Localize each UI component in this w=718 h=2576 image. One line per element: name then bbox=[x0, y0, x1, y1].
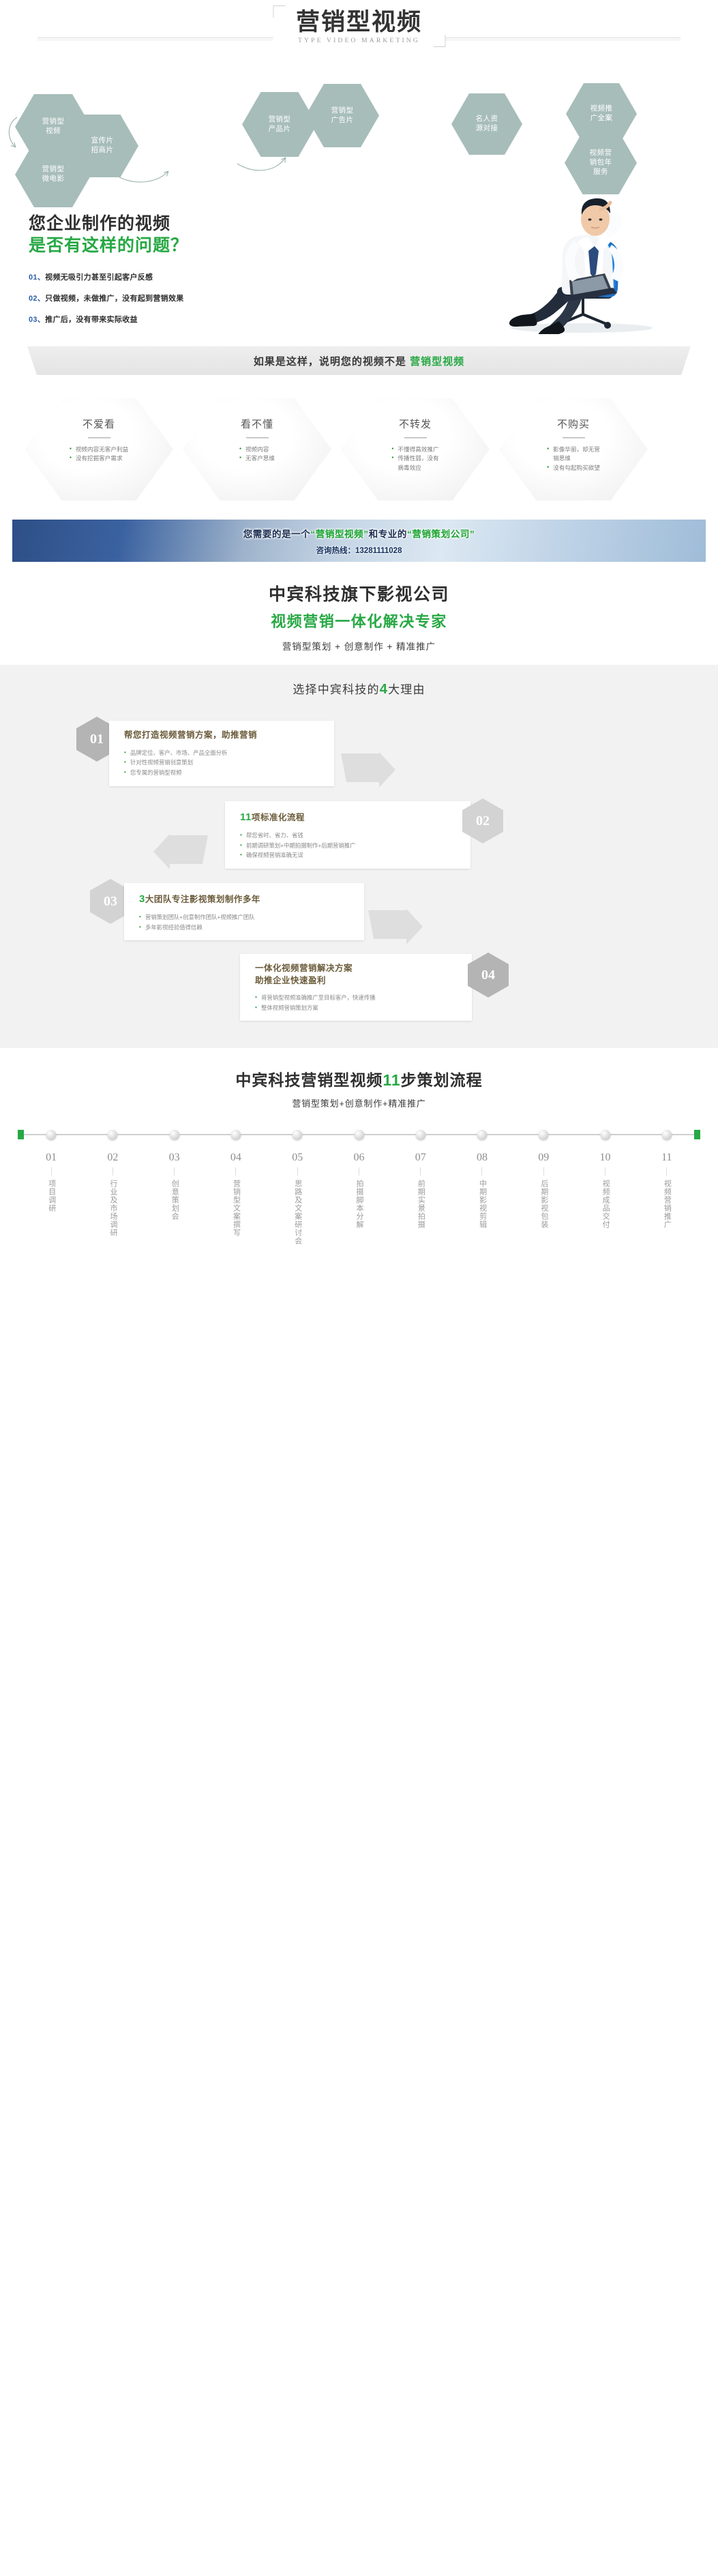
cta-highlight-2: “营销策划公司” bbox=[407, 529, 475, 539]
steps-heading: 中宾科技营销型视频11步策划流程 bbox=[0, 1067, 718, 1090]
step-rule bbox=[543, 1167, 544, 1175]
step-number: 02 bbox=[82, 1152, 143, 1164]
hex-item-label: 视频推广全案 bbox=[586, 104, 617, 123]
step-label: 前期实景拍摄 bbox=[415, 1180, 425, 1229]
step-item-4[interactable]: 05 思路及文案研讨会 bbox=[267, 1152, 328, 1248]
problem-item-text: 推广后，没有带来实际收益 bbox=[45, 316, 138, 324]
steps-timeline bbox=[20, 1127, 698, 1142]
reasons-heading-before: 选择中宾科技的 bbox=[293, 683, 379, 696]
reason-title: 帮您打造视频营销方案，助推营销 bbox=[124, 730, 322, 742]
bullet: 没有挖掘客户需求 bbox=[70, 454, 128, 463]
timeline-dot bbox=[477, 1130, 488, 1140]
hex-item-label: 营销型视频 bbox=[38, 117, 69, 136]
hex-item-label: 视频营销包年服务 bbox=[586, 149, 616, 177]
steps-heading-after: 步策划流程 bbox=[401, 1071, 483, 1089]
steps-columns: 01 项目调研 02 行业及市场调研 03 创意策划会 04 营销型文案撰写 0… bbox=[20, 1152, 698, 1248]
hex-item-label: 名人资源对接 bbox=[472, 115, 503, 134]
reason-bullet: 多年影视经验值得信赖 bbox=[139, 923, 352, 933]
cta-part2: 和专业的 bbox=[369, 529, 407, 539]
step-number: 09 bbox=[513, 1152, 574, 1164]
reason-number: 01 bbox=[90, 732, 104, 747]
reason-title: 3大团队专注影视策划制作多年 bbox=[139, 892, 352, 906]
step-item-5[interactable]: 06 拍摄脚本分解 bbox=[328, 1152, 389, 1248]
brand-line-1: 中宾科技旗下影视公司 bbox=[0, 581, 718, 605]
reason-bullet: 针对性视频营销创意策划 bbox=[124, 758, 322, 768]
timeline-dot bbox=[415, 1130, 425, 1140]
step-number: 04 bbox=[205, 1152, 267, 1164]
problem-hex-3[interactable]: 不购买 影像华丽，却无营 销思维 没有勾起购买欲望 bbox=[499, 398, 648, 500]
hex-item-7[interactable]: 视频营销包年服务 bbox=[565, 132, 637, 194]
reason-bullet: 整体视频营销策划方案 bbox=[255, 1003, 460, 1013]
problem-hex-divider bbox=[88, 437, 110, 438]
step-rule bbox=[235, 1167, 236, 1175]
step-label: 行业及市场调研 bbox=[108, 1180, 118, 1237]
cta-hotline: 咨询热线：13281111028 bbox=[316, 545, 402, 556]
timeline-dot bbox=[661, 1130, 672, 1140]
problem-hex-title: 看不懂 bbox=[183, 417, 331, 431]
problem-hex-divider bbox=[404, 437, 427, 438]
problem-hex-divider bbox=[246, 437, 269, 438]
flow-arrow-0 bbox=[341, 752, 395, 794]
timeline-dot bbox=[293, 1130, 303, 1140]
problem-hex-bullets: 影像华丽，却无营 销思维 没有勾起购买欲望 bbox=[547, 445, 600, 473]
problem-item-text: 视频无吸引力甚至引起客户反感 bbox=[45, 273, 153, 282]
landing-page: 营销型视频 TYPE VIDEO MARKETING 营销型视频 宣传片招商片 bbox=[0, 0, 718, 1269]
page-header: 营销型视频 TYPE VIDEO MARKETING bbox=[0, 0, 718, 82]
reason-card-1[interactable]: 11项标准化流程 帮您省时、省力、省钱 前期调研策划+中期拍摄制作+后期营销推广… bbox=[225, 801, 470, 869]
reason-number-hex-3: 04 bbox=[468, 953, 509, 998]
reason-bullet: 您专属的营销型视频 bbox=[124, 768, 322, 778]
bullet: 无客户思维 bbox=[239, 454, 275, 463]
hex-item-label: 营销型广告片 bbox=[327, 106, 358, 125]
hex-item-4[interactable]: 名人资源对接 bbox=[451, 93, 522, 155]
step-label: 视频营销推广 bbox=[661, 1180, 672, 1229]
cta-highlight-1: “营销型视频” bbox=[310, 529, 368, 539]
problem-hex-title: 不转发 bbox=[341, 417, 490, 431]
hex-item-label: 营销型产品片 bbox=[265, 115, 295, 134]
reason-number: 02 bbox=[476, 813, 490, 829]
reason-number: 03 bbox=[104, 894, 117, 910]
step-item-9[interactable]: 10 视频成品交付 bbox=[574, 1152, 635, 1248]
reason-row-1: 11项标准化流程 帮您省时、省力、省钱 前期调研策划+中期拍摄制作+后期营销推广… bbox=[0, 794, 718, 875]
timeline-dot bbox=[600, 1130, 610, 1140]
step-label: 思路及文案研讨会 bbox=[293, 1180, 303, 1245]
page-subtitle: TYPE VIDEO MARKETING bbox=[296, 38, 422, 44]
reason-row-3: 一体化视频营销解决方案 助推企业快速盈利 将营销型视频准确推广至目标客户，快速传… bbox=[0, 951, 718, 1022]
flow-arrow-2 bbox=[368, 909, 423, 951]
hex-item-label: 营销型微电影 bbox=[38, 165, 69, 184]
step-rule bbox=[605, 1167, 605, 1175]
header-title-box: 营销型视频 TYPE VIDEO MARKETING bbox=[273, 5, 445, 47]
step-item-8[interactable]: 09 后期影视包装 bbox=[513, 1152, 574, 1248]
problem-hex-title: 不爱看 bbox=[25, 417, 173, 431]
problem-item-text: 只做视频，未做推广，没有起到营销效果 bbox=[45, 295, 183, 303]
brand-line-2: 视频营销一体化解决专家 bbox=[0, 610, 718, 631]
brand-line-3: 营销型策划 + 创意制作 + 精准推广 bbox=[0, 639, 718, 653]
flow-arrow-1 bbox=[153, 834, 208, 876]
hex-item-label: 宣传片招商片 bbox=[87, 136, 118, 155]
step-number: 11 bbox=[636, 1152, 698, 1164]
steps-heading-before: 中宾科技营销型视频 bbox=[235, 1071, 383, 1089]
bullet: 传播性弱，没有 bbox=[391, 454, 438, 463]
step-item-7[interactable]: 08 中期影视剪辑 bbox=[451, 1152, 513, 1248]
problem-section: 您企业制作的视频 是否有这样的问题？ 01、视频无吸引力甚至引起客户反感 02、… bbox=[0, 194, 718, 334]
step-item-2[interactable]: 03 创意策划会 bbox=[144, 1152, 205, 1248]
reason-title: 一体化视频营销解决方案 助推企业快速盈利 bbox=[255, 963, 460, 987]
reason-card-3[interactable]: 一体化视频营销解决方案 助推企业快速盈利 将营销型视频准确推广至目标客户，快速传… bbox=[240, 954, 472, 1021]
reason-bullet: 将营销型视频准确推广至目标客户，快速传播 bbox=[255, 993, 460, 1003]
step-label: 项目调研 bbox=[46, 1180, 57, 1212]
cta-part1: 您需要的是一个 bbox=[243, 529, 311, 539]
problem-hex-1[interactable]: 看不懂 视频内容 无客户思维 bbox=[183, 398, 331, 500]
reason-bullet: 前期调研策划+中期拍摄制作+后期营销推广 bbox=[240, 841, 458, 851]
step-rule bbox=[51, 1167, 52, 1175]
step-rule bbox=[420, 1167, 421, 1175]
hex-item-3[interactable]: 营销型广告片 bbox=[305, 84, 379, 147]
problem-item-number: 03、 bbox=[29, 316, 45, 324]
ribbon-text: 如果是这样，说明您的视频不是 营销型视频 bbox=[254, 354, 464, 368]
step-rule bbox=[297, 1167, 298, 1175]
bullet: 影像华丽，却无营 bbox=[547, 445, 600, 454]
ribbon-section: 如果是这样，说明您的视频不是 营销型视频 bbox=[0, 334, 718, 379]
reason-title-number: 11 bbox=[240, 811, 252, 823]
step-rule bbox=[359, 1167, 359, 1175]
reason-bullet: 品牌定位、客户、市场、产品全面分析 bbox=[124, 748, 322, 758]
bullet: 不懂得高效推广 bbox=[391, 445, 438, 454]
cta-banner-section: 您需要的是一个“营销型视频”和专业的“营销策划公司” 咨询热线：13281111… bbox=[0, 511, 718, 562]
service-hex-cloud: 营销型视频 宣传片招商片 营销型产品片 营销型广告片 名人资源对接 视频推广全案… bbox=[0, 82, 718, 194]
steps-subheading: 营销型策划+创意制作+精准推广 bbox=[0, 1096, 718, 1109]
step-label: 后期影视包装 bbox=[539, 1180, 549, 1229]
cta-headline: 您需要的是一个“营销型视频”和专业的“营销策划公司” bbox=[243, 526, 475, 540]
step-number: 06 bbox=[328, 1152, 389, 1164]
cta-banner[interactable]: 您需要的是一个“营销型视频”和专业的“营销策划公司” 咨询热线：13281111… bbox=[12, 520, 706, 562]
step-label: 拍摄脚本分解 bbox=[354, 1180, 364, 1229]
reason-title: 11项标准化流程 bbox=[240, 810, 458, 824]
step-rule bbox=[174, 1167, 175, 1175]
reason-card-0[interactable]: 帮您打造视频营销方案，助推营销 品牌定位、客户、市场、产品全面分析 针对性视频营… bbox=[109, 721, 334, 786]
bullet-continuation: 病毒效应 bbox=[391, 464, 438, 473]
steps-heading-number: 11 bbox=[383, 1071, 400, 1089]
businessman-photo bbox=[455, 194, 687, 334]
reason-title-text: 大团队专注影视策划制作多年 bbox=[145, 895, 260, 904]
timeline-cap-left bbox=[18, 1130, 24, 1139]
problem-item-number: 02、 bbox=[29, 295, 45, 303]
problem-hex-0[interactable]: 不爱看 视频内容无客户利益 没有挖掘客户需求 bbox=[25, 398, 173, 500]
step-item-1[interactable]: 02 行业及市场调研 bbox=[82, 1152, 143, 1248]
reasons-heading: 选择中宾科技的4大理由 bbox=[0, 680, 718, 698]
reasons-heading-after: 大理由 bbox=[388, 683, 425, 696]
page-title: 营销型视频 bbox=[296, 8, 422, 36]
step-rule bbox=[666, 1167, 667, 1175]
step-number: 07 bbox=[390, 1152, 451, 1164]
hex-item-2[interactable]: 营销型产品片 bbox=[242, 92, 317, 157]
timeline-dot bbox=[169, 1130, 179, 1140]
reason-row-0: 01 帮您打造视频营销方案，助推营销 品牌定位、客户、市场、产品全面分析 针对性… bbox=[0, 711, 718, 792]
reason-bullet: 确保视频营销准确无误 bbox=[240, 850, 458, 860]
bullet: 没有勾起购买欲望 bbox=[547, 464, 600, 473]
reasons-heading-number: 4 bbox=[380, 682, 388, 697]
step-number: 05 bbox=[267, 1152, 328, 1164]
ribbon-text-highlight: 营销型视频 bbox=[410, 356, 464, 368]
conclusion-ribbon: 如果是这样，说明您的视频不是 营销型视频 bbox=[27, 346, 691, 375]
step-label: 中期影视剪辑 bbox=[477, 1180, 487, 1229]
timeline-dot bbox=[108, 1130, 118, 1140]
reason-card-2[interactable]: 3大团队专注影视策划制作多年 营销策划团队+创意制作团队+视频推广团队 多年影视… bbox=[124, 883, 364, 940]
problem-hex-title: 不购买 bbox=[499, 417, 648, 431]
bullet: 视频内容 bbox=[239, 445, 275, 454]
step-rule bbox=[481, 1167, 482, 1175]
problem-hex-2[interactable]: 不转发 不懂得高效推广 传播性弱，没有 病毒效应 bbox=[341, 398, 490, 500]
timeline-dot bbox=[539, 1130, 549, 1140]
reason-bullet: 帮您省时、省力、省钱 bbox=[240, 830, 458, 841]
step-label: 视频成品交付 bbox=[600, 1180, 610, 1229]
problem-hex-bullets: 视频内容 无客户思维 bbox=[239, 445, 275, 464]
step-item-0[interactable]: 01 项目调研 bbox=[20, 1152, 82, 1248]
step-number: 01 bbox=[20, 1152, 82, 1164]
reason-number: 04 bbox=[481, 968, 495, 983]
reason-title-number: 3 bbox=[139, 893, 145, 905]
step-item-3[interactable]: 04 营销型文案撰写 bbox=[205, 1152, 267, 1248]
steps-section: 中宾科技营销型视频11步策划流程 营销型策划+创意制作+精准推广 01 项目调研 bbox=[0, 1048, 718, 1269]
problem-hex-bullets: 不懂得高效推广 传播性弱，没有 病毒效应 bbox=[391, 445, 438, 473]
reason-bullet: 营销策划团队+创意制作团队+视频推广团队 bbox=[139, 912, 352, 923]
step-number: 08 bbox=[451, 1152, 513, 1164]
timeline-cap-right bbox=[694, 1130, 700, 1139]
timeline-dot bbox=[354, 1130, 364, 1140]
step-number: 10 bbox=[574, 1152, 635, 1164]
timeline-dot bbox=[46, 1130, 57, 1140]
reasons-section: 选择中宾科技的4大理由 01 帮您打造视频营销方案，助推营销 品牌定位、客户、市… bbox=[0, 665, 718, 1048]
ribbon-text-main: 如果是这样，说明您的视频不是 bbox=[254, 356, 406, 368]
step-item-10[interactable]: 11 视频营销推广 bbox=[636, 1152, 698, 1248]
brand-section: 中宾科技旗下影视公司 视频营销一体化解决专家 营销型策划 + 创意制作 + 精准… bbox=[0, 562, 718, 665]
timeline-dot bbox=[230, 1130, 241, 1140]
step-label: 创意策划会 bbox=[169, 1180, 179, 1220]
step-item-6[interactable]: 07 前期实景拍摄 bbox=[390, 1152, 451, 1248]
step-number: 03 bbox=[144, 1152, 205, 1164]
reason-title-text: 项标准化流程 bbox=[252, 813, 305, 822]
bullet-continuation: 销思维 bbox=[547, 454, 600, 463]
step-rule bbox=[113, 1167, 113, 1175]
problem-hex-divider bbox=[563, 437, 585, 438]
problem-item-number: 01、 bbox=[29, 273, 45, 282]
problem-hex-bullets: 视频内容无客户利益 没有挖掘客户需求 bbox=[70, 445, 128, 464]
step-label: 营销型文案撰写 bbox=[230, 1180, 241, 1237]
reason-row-2: 03 3大团队专注影视策划制作多年 营销策划团队+创意制作团队+视频推广团队 多… bbox=[0, 878, 718, 948]
bullet: 视频内容无客户利益 bbox=[70, 445, 128, 454]
four-problems-section: 不爱看 视频内容无客户利益 没有挖掘客户需求 看不懂 视频内容 无客户思维 不转… bbox=[0, 389, 718, 511]
